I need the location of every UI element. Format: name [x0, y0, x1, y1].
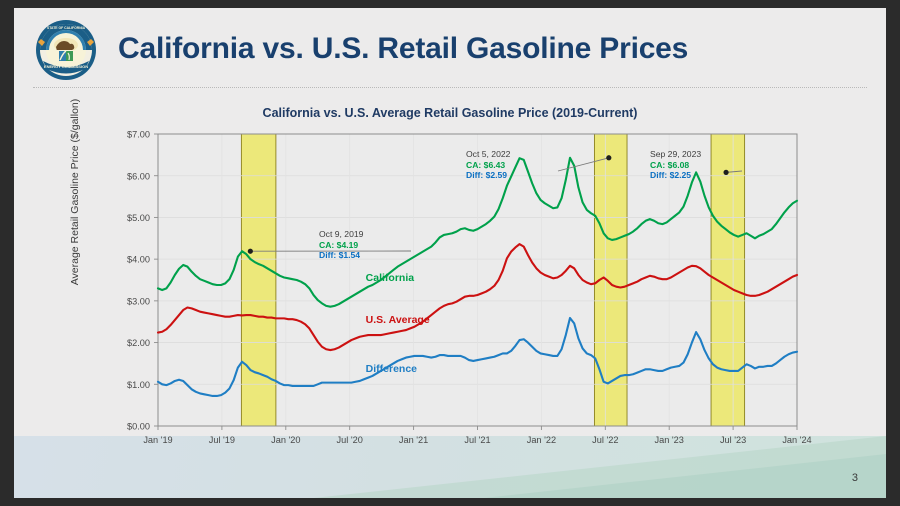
y-tick-label: $3.00: [127, 296, 150, 306]
y-axis-title: Average Retail Gasoline Price ($/gallon): [69, 47, 81, 337]
x-tick-label: Jul '22: [592, 435, 618, 445]
x-tick-label: Jan '20: [271, 435, 300, 445]
annot-sep-2023-marker: [723, 170, 728, 175]
annot-oct-2022-diff-value: Diff: $2.59: [466, 170, 510, 181]
annot-oct-2019-marker: [248, 249, 253, 254]
x-tick-label: Jul '21: [464, 435, 490, 445]
annot-oct-2019-diff-value: Diff: $1.54: [319, 250, 363, 261]
annot-oct-2022-date: Oct 5, 2022: [466, 149, 510, 160]
x-tick-label: Jul '20: [337, 435, 363, 445]
annot-oct-2022-ca-value: CA: $6.43: [466, 160, 510, 171]
y-tick-label: $6.00: [127, 171, 150, 181]
y-tick-label: $1.00: [127, 380, 150, 390]
annot-sep-2023-ca-value: CA: $6.08: [650, 160, 701, 171]
gasoline-price-chart: $0.00$1.00$2.00$3.00$4.00$5.00$6.00$7.00…: [14, 8, 886, 498]
y-tick-label: $0.00: [127, 422, 150, 432]
annot-sep-2023-date: Sep 29, 2023: [650, 149, 701, 160]
x-tick-label: Jan '24: [782, 435, 811, 445]
annot-oct-2019-ca-value: CA: $4.19: [319, 240, 363, 251]
y-tick-label: $7.00: [127, 130, 150, 140]
x-tick-label: Jan '19: [143, 435, 172, 445]
series-label-california: California: [366, 272, 414, 284]
x-tick-label: Jan '21: [399, 435, 428, 445]
series-label-difference: Difference: [366, 363, 417, 375]
annot-oct-2022-marker: [606, 155, 611, 160]
series-label-u-s-average: U.S. Average: [366, 314, 430, 326]
highlight-band-1: [241, 134, 276, 426]
y-tick-label: $4.00: [127, 255, 150, 265]
annot-sep-2023-diff-value: Diff: $2.25: [650, 170, 701, 181]
x-tick-label: Jul '19: [209, 435, 235, 445]
x-tick-label: Jan '23: [655, 435, 684, 445]
annot-sep-2023: Sep 29, 2023CA: $6.08Diff: $2.25: [650, 149, 701, 181]
page-number: 3: [852, 472, 858, 484]
y-tick-label: $5.00: [127, 213, 150, 223]
x-tick-label: Jan '22: [527, 435, 556, 445]
annot-oct-2019: Oct 9, 2019CA: $4.19Diff: $1.54: [319, 229, 363, 261]
annot-oct-2022: Oct 5, 2022CA: $6.43Diff: $2.59: [466, 149, 510, 181]
x-tick-label: Jul '23: [720, 435, 746, 445]
slide: ENERGY COMMISSION STATE OF CALIFORNIA Ca…: [14, 8, 886, 498]
annot-oct-2019-date: Oct 9, 2019: [319, 229, 363, 240]
y-tick-label: $2.00: [127, 338, 150, 348]
